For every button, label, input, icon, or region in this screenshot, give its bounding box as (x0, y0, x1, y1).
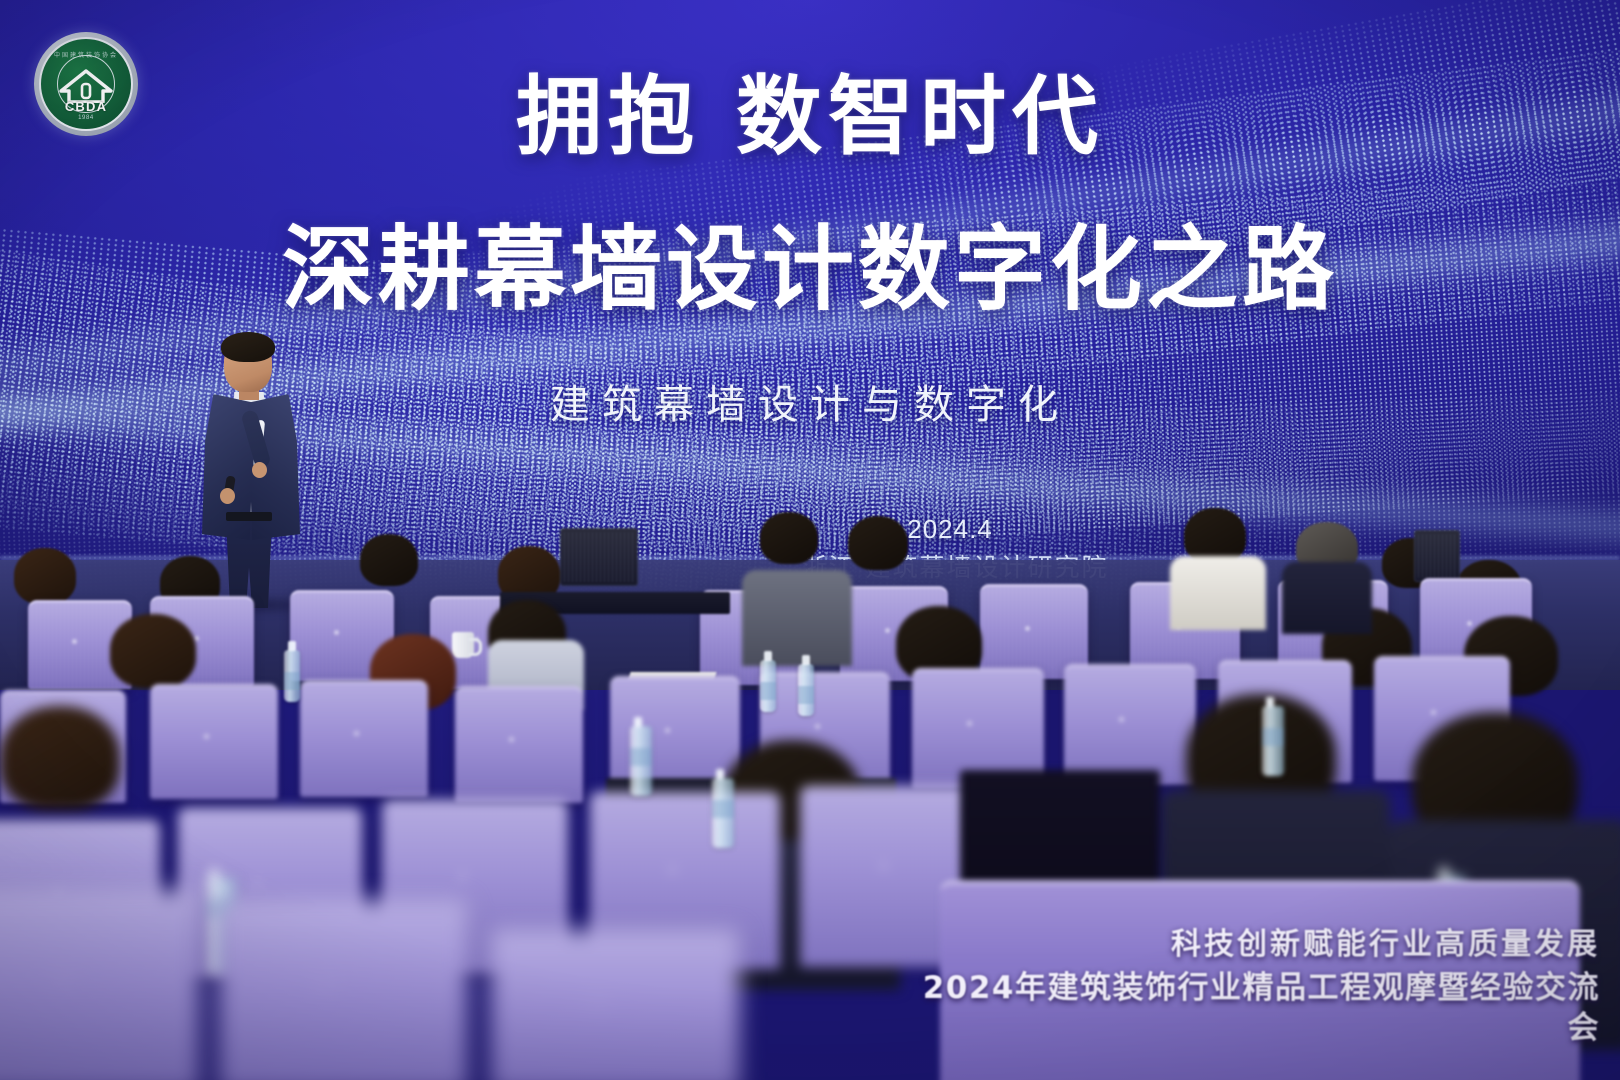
bottle-label (760, 682, 776, 700)
water-bottle (1262, 706, 1284, 776)
speaker-hand-left (220, 488, 235, 504)
event-banner-text: 科技创新赋能行业高质量发展 2024年建筑装饰行业精品工程观摩暨经验交流会 (900, 925, 1600, 1049)
av-monitor (560, 528, 638, 586)
audience-seat (300, 680, 428, 797)
attendee-head (848, 516, 908, 570)
water-bottle (284, 650, 300, 702)
chair-foreground-1 (0, 890, 200, 1080)
monitor-grill (564, 532, 634, 582)
chair-foreground-3 (490, 930, 740, 1080)
av-monitor-2 (1414, 530, 1460, 582)
coffee-mug (452, 632, 474, 658)
speaker-hand-right (252, 462, 267, 478)
bottle-label (630, 748, 652, 766)
attendee-head (360, 534, 418, 586)
attendee-body-grey (742, 570, 852, 666)
attendee-head (760, 512, 818, 564)
audience-seat (1064, 664, 1196, 785)
speaker-belt (226, 512, 272, 521)
attendee-body-white (1170, 556, 1266, 630)
water-bottle (630, 726, 652, 796)
water-bottle (760, 660, 776, 712)
chair-foreground-2 (218, 900, 468, 1080)
conference-photo: 中国建筑装饰协会 CBDA 1984 拥抱 数智时代 深耕幕墙设计数字化之路 建… (0, 0, 1620, 1080)
banner-line-1: 科技创新赋能行业高质量发展 (900, 925, 1600, 964)
logo-arc-text: 中国建筑装饰协会 (41, 50, 131, 59)
slide-title-line1: 拥抱 数智时代 (0, 72, 1620, 162)
bottle-label (798, 686, 814, 704)
audience-seat (455, 686, 583, 803)
bottle-label (284, 672, 300, 690)
monitor-grill-2 (1418, 534, 1456, 578)
attendee-body-dark (1282, 562, 1372, 634)
bottle-label (712, 800, 734, 818)
water-bottle (798, 664, 814, 716)
audience-seat (150, 684, 278, 799)
attendee-head (14, 548, 76, 604)
speaker-hair (221, 332, 275, 362)
slide-title-line2: 深耕幕墙设计数字化之路 (0, 222, 1620, 319)
water-bottle (712, 778, 734, 848)
banner-line-2: 2024年建筑装饰行业精品工程观摩暨经验交流会 (900, 968, 1600, 1049)
attendee-head (110, 614, 196, 688)
attendee-head (0, 706, 120, 810)
bottle-label (1262, 728, 1284, 746)
